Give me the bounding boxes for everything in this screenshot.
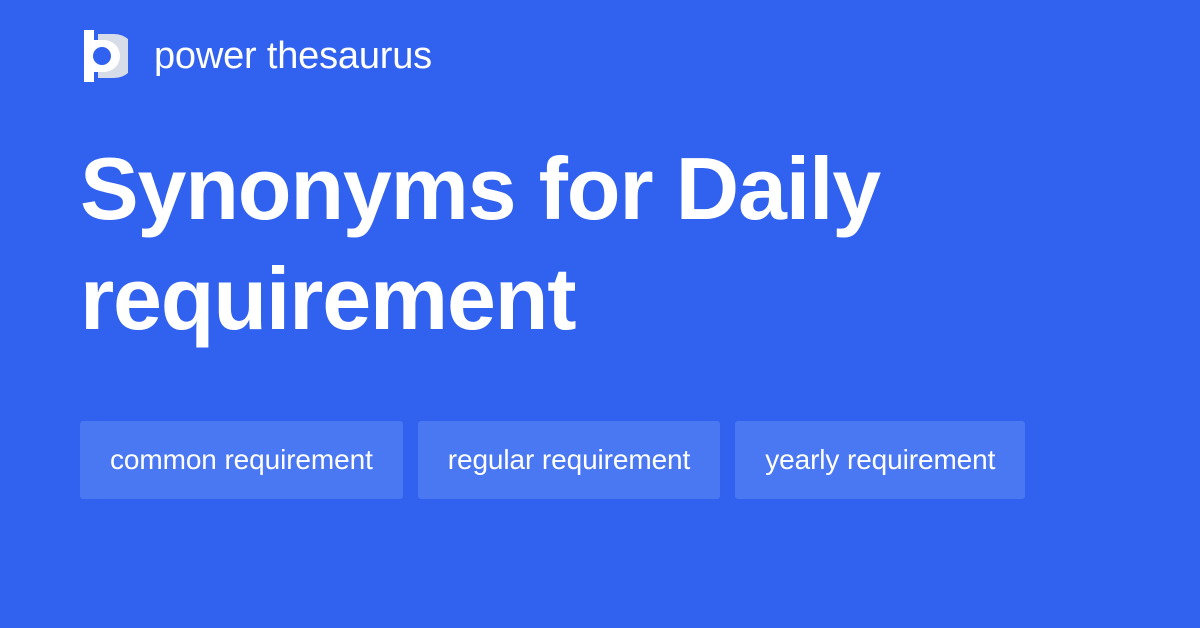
synonyms-share-card: power thesaurus Synonyms for Daily requi… <box>0 0 1200 628</box>
brand-name: power thesaurus <box>154 37 432 75</box>
page-title: Synonyms for Daily requirement <box>80 134 960 354</box>
brand-header: power thesaurus <box>80 28 432 84</box>
synonym-chip-list: common requirement regular requirement y… <box>80 421 1120 499</box>
synonym-chip[interactable]: yearly requirement <box>735 421 1025 499</box>
power-thesaurus-b-mark-icon <box>80 30 128 82</box>
synonym-chip[interactable]: regular requirement <box>418 421 720 499</box>
synonym-chip[interactable]: common requirement <box>80 421 403 499</box>
